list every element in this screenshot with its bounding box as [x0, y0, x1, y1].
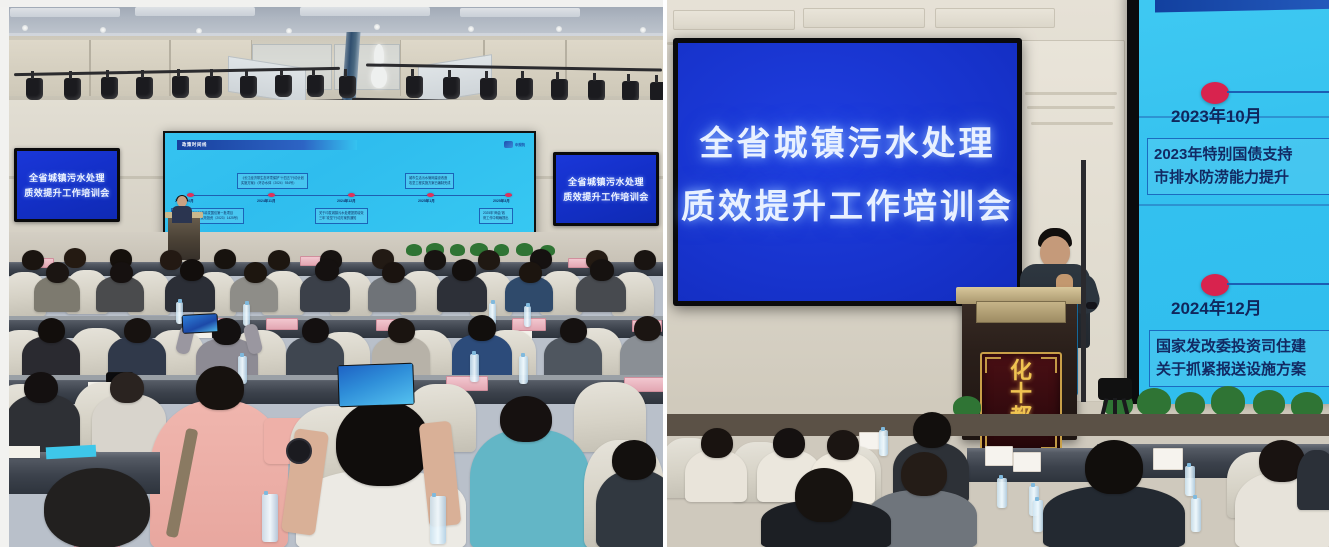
- audience-head: [160, 250, 182, 270]
- timeline-marker-dot: [268, 193, 275, 197]
- audience-head: [913, 412, 951, 448]
- table-surface: [0, 375, 663, 380]
- timeline-marker-dot: [1201, 82, 1229, 104]
- timeline-date: 2024年11月: [257, 199, 276, 204]
- stage-plant: [1137, 388, 1171, 416]
- smartphone[interactable]: [182, 313, 219, 334]
- side-screen-left-line-2: 质效提升工作培训会: [24, 186, 110, 199]
- timeline-note-line: 国家发改委投资司住建: [1156, 336, 1329, 359]
- table-name-card: [266, 318, 298, 330]
- audience-head: [901, 452, 947, 496]
- stage-spotlight: [516, 78, 533, 100]
- timeline-marker-dot: [505, 193, 512, 197]
- timeline-date: 2023年10月: [1171, 102, 1262, 127]
- timeline-note-box: 2025年"两会"政 府工作中明确提出: [479, 208, 513, 224]
- ceiling-downlight: [556, 26, 562, 32]
- stage-plant: [1175, 392, 1205, 416]
- title-screen-line-2: 质效提升工作培训会: [681, 179, 1014, 228]
- water-bottle: [879, 430, 888, 456]
- title-led-screen: 全省城镇污水处理 质效提升工作培训会 LED: [673, 38, 1022, 306]
- side-led-screen-right: 全省城镇污水处理 质效提升工作培训会: [553, 152, 659, 226]
- water-bottle: [997, 478, 1007, 508]
- photo-margin-top: [0, 0, 663, 7]
- audience-head: [124, 318, 151, 343]
- audience-head: [612, 440, 656, 480]
- plaque-ornament: [1041, 357, 1057, 373]
- water-bottle: [1185, 466, 1195, 496]
- audience-head: [336, 400, 430, 486]
- stage-spotlight: [551, 79, 568, 101]
- audience-head: [560, 318, 587, 343]
- audience-head: [382, 262, 405, 283]
- timeline-date: 2024年12月: [1171, 294, 1262, 319]
- water-bottle: [524, 306, 531, 327]
- timeline-note-box: 关于印发城镇污水处理提质增效 三年"攻坚"行动方案的通知: [315, 208, 368, 224]
- wall-molding: [673, 10, 795, 30]
- side-screen-right-line-1: 全省城镇污水处理: [568, 175, 644, 188]
- stage-spotlight: [307, 75, 324, 97]
- table-surface: [0, 316, 663, 320]
- stage-plant: [450, 244, 465, 256]
- stage-presenter: [172, 196, 192, 222]
- timeline-note-box: 2023年特别国债支持 市排水防涝能力提升: [1147, 138, 1329, 195]
- stage-spotlight: [136, 77, 153, 99]
- audience-head: [795, 468, 853, 522]
- side-led-screen-left: 全省城镇污水处理 质效提升工作培训会: [14, 148, 120, 222]
- water-bottle: [519, 356, 528, 384]
- water-bottle: [243, 304, 250, 326]
- audience-head: [196, 366, 244, 410]
- wall-molding: [935, 8, 1055, 28]
- timeline-note-line: 攻坚工程实施方案已编制完成: [409, 181, 450, 186]
- slide-header-text: 政策时间线: [177, 142, 207, 148]
- ceiling-slot: [10, 8, 120, 17]
- stage-spotlight: [275, 75, 292, 97]
- audience-head: [64, 248, 86, 268]
- audience-head: [1085, 440, 1143, 494]
- audience-head: [500, 396, 552, 442]
- stage-spotlight: [101, 77, 118, 99]
- plaque-char-2: 十: [1010, 383, 1032, 405]
- tripod-column: [1081, 160, 1086, 402]
- audience-person-teal-shirt: [470, 430, 590, 547]
- water-bottle: [1033, 500, 1043, 532]
- audience-head: [268, 250, 290, 270]
- hanging-light: [371, 66, 387, 88]
- stage-plant: [1253, 390, 1285, 416]
- stage-spotlight: [240, 76, 257, 98]
- video-camera: [1098, 378, 1132, 400]
- plaque-ornament: [985, 357, 1001, 373]
- audience-head: [302, 318, 329, 343]
- audience-head: [590, 259, 614, 281]
- ceiling-downlight: [374, 24, 380, 30]
- lectern-panel: [976, 301, 1066, 323]
- plaque-char-1: 化: [1010, 360, 1032, 382]
- audience-head: [38, 318, 65, 343]
- policy-timeline-slide: 政策时间线 中规院 2023年10月 关于组织做好2023年增发国债第一批项目 …: [165, 133, 534, 237]
- audience-head: [424, 250, 446, 270]
- stage-spotlight: [172, 76, 189, 98]
- wall-trim: [1025, 92, 1117, 95]
- timeline-axis: [1227, 283, 1329, 285]
- audience-head: [315, 259, 339, 281]
- timeline-note-line: 实施方案》（环办水体〔2024〕934号）: [241, 181, 304, 186]
- wristwatch: [286, 438, 312, 464]
- timeline-note-line: 2023年特别国债支持: [1154, 144, 1329, 167]
- stage-spotlight: [205, 76, 222, 98]
- divider: [1139, 204, 1329, 206]
- smartphone[interactable]: [337, 363, 414, 408]
- timeline-note-line: 市排水防涝能力提升: [1154, 167, 1329, 190]
- wall-trim: [1027, 106, 1115, 109]
- logo-mark-icon: [504, 141, 513, 148]
- side-screen-left-line-1: 全省城镇污水处理: [29, 171, 105, 184]
- audience-person: [1297, 450, 1329, 510]
- stage-spotlight: [406, 76, 423, 98]
- audience-head: [478, 250, 500, 270]
- audience-person: [620, 334, 663, 380]
- audience-person: [1043, 486, 1185, 547]
- stage-spotlight: [26, 78, 43, 100]
- audience-head: [110, 372, 144, 403]
- timeline-note-box: 《长江经济带生态环境保护"十四五"行动计划 实施方案》（环办水体〔2024〕93…: [237, 173, 308, 189]
- right-photo: 全省城镇污水处理 质效提升工作培训会 LED 2023年10月 2023年特别国…: [667, 0, 1329, 547]
- stage-spotlight: [443, 77, 460, 99]
- table-name-card: [1153, 448, 1183, 470]
- table-name-card: [985, 446, 1013, 466]
- lectern-plaque: 化 十 都: [980, 352, 1062, 454]
- logo-text: 中规院: [515, 142, 525, 147]
- speaker-wristwatch: [1086, 302, 1097, 309]
- audience-head: [388, 318, 415, 343]
- timeline-note-line: 关于抓紧报送设施方案: [1156, 359, 1329, 382]
- audience-head: [468, 315, 496, 341]
- audience-head: [110, 262, 133, 283]
- title-screen-line-1: 全省城镇污水处理: [700, 116, 996, 165]
- water-bottle: [1191, 498, 1201, 532]
- stage-spotlight: [588, 80, 605, 102]
- stage-plant: [1211, 386, 1245, 416]
- side-screen-right-line-2: 质效提升工作培训会: [563, 190, 649, 203]
- audience-head: [519, 262, 542, 283]
- timeline-axis: [1227, 91, 1329, 93]
- timeline-led-screen: 2023年10月 2023年特别国债支持 市排水防涝能力提升 2024年12月 …: [1127, 0, 1329, 404]
- photo-margin-left: [0, 0, 9, 547]
- audience-head: [46, 262, 69, 283]
- timeline-note-box: 国家发改委投资司住建 关于抓紧报送设施方案: [1149, 330, 1329, 387]
- water-bottle: [262, 494, 278, 542]
- stage-spotlight: [339, 76, 356, 98]
- wall-molding: [803, 8, 925, 28]
- table-name-card: [1013, 452, 1041, 472]
- ceiling-slot: [460, 8, 580, 17]
- stage-spotlight: [480, 78, 497, 100]
- screen-bezel: [1127, 0, 1139, 404]
- audience-head: [44, 468, 150, 547]
- main-projection-screen: 政策时间线 中规院 2023年10月 关于组织做好2023年增发国债第一批项目 …: [163, 131, 536, 239]
- audience-person: [596, 470, 663, 547]
- timeline-note-box: 城市生活污水管网建设改造 攻坚工程实施方案已编制完成: [405, 173, 454, 189]
- audience-head: [244, 262, 267, 283]
- slide-logo: 中规院: [504, 141, 525, 148]
- audience-head: [634, 250, 656, 270]
- stage-spotlight: [64, 78, 81, 100]
- left-photo: 全省城镇污水处理 质效提升工作培训会 全省城镇污水处理 质效提升工作培训会 政策…: [0, 0, 663, 547]
- wall-trim: [1031, 122, 1113, 125]
- slide-header-bar: 政策时间线: [177, 140, 357, 150]
- audience-head: [214, 249, 236, 269]
- ceiling-slot: [135, 7, 255, 16]
- ceiling-downlight: [468, 26, 474, 32]
- stage-front-band: [667, 414, 1329, 436]
- timeline-marker-dot: [427, 193, 434, 197]
- audience-head: [180, 259, 204, 281]
- audience-head: [22, 250, 44, 270]
- audience-head: [24, 372, 58, 403]
- timeline-note-line: 府工作中明确提出: [483, 216, 509, 221]
- photo-composite: 全省城镇污水处理 质效提升工作培训会 全省城镇污水处理 质效提升工作培训会 政策…: [0, 0, 1329, 547]
- timeline-note-line: 三年"攻坚"行动方案的通知: [319, 216, 364, 221]
- timeline-date: 2025年3月: [493, 199, 510, 204]
- audience-head: [773, 428, 805, 458]
- ceiling-downlight: [22, 25, 28, 31]
- timeline-date: 2025年1月: [418, 199, 435, 204]
- ceiling-slot: [300, 7, 430, 16]
- timeline-header-bar: [1155, 0, 1329, 13]
- water-bottle: [430, 496, 446, 544]
- timeline-date: 2024年12月: [337, 199, 356, 204]
- timeline-marker-dot: [1201, 274, 1229, 296]
- water-bottle: [470, 354, 479, 382]
- audience-head: [827, 430, 859, 460]
- stage-plant: [406, 244, 422, 256]
- audience-head: [452, 259, 476, 281]
- audience-head: [701, 428, 733, 458]
- timeline-marker-dot: [348, 193, 355, 197]
- audience-head: [634, 316, 661, 341]
